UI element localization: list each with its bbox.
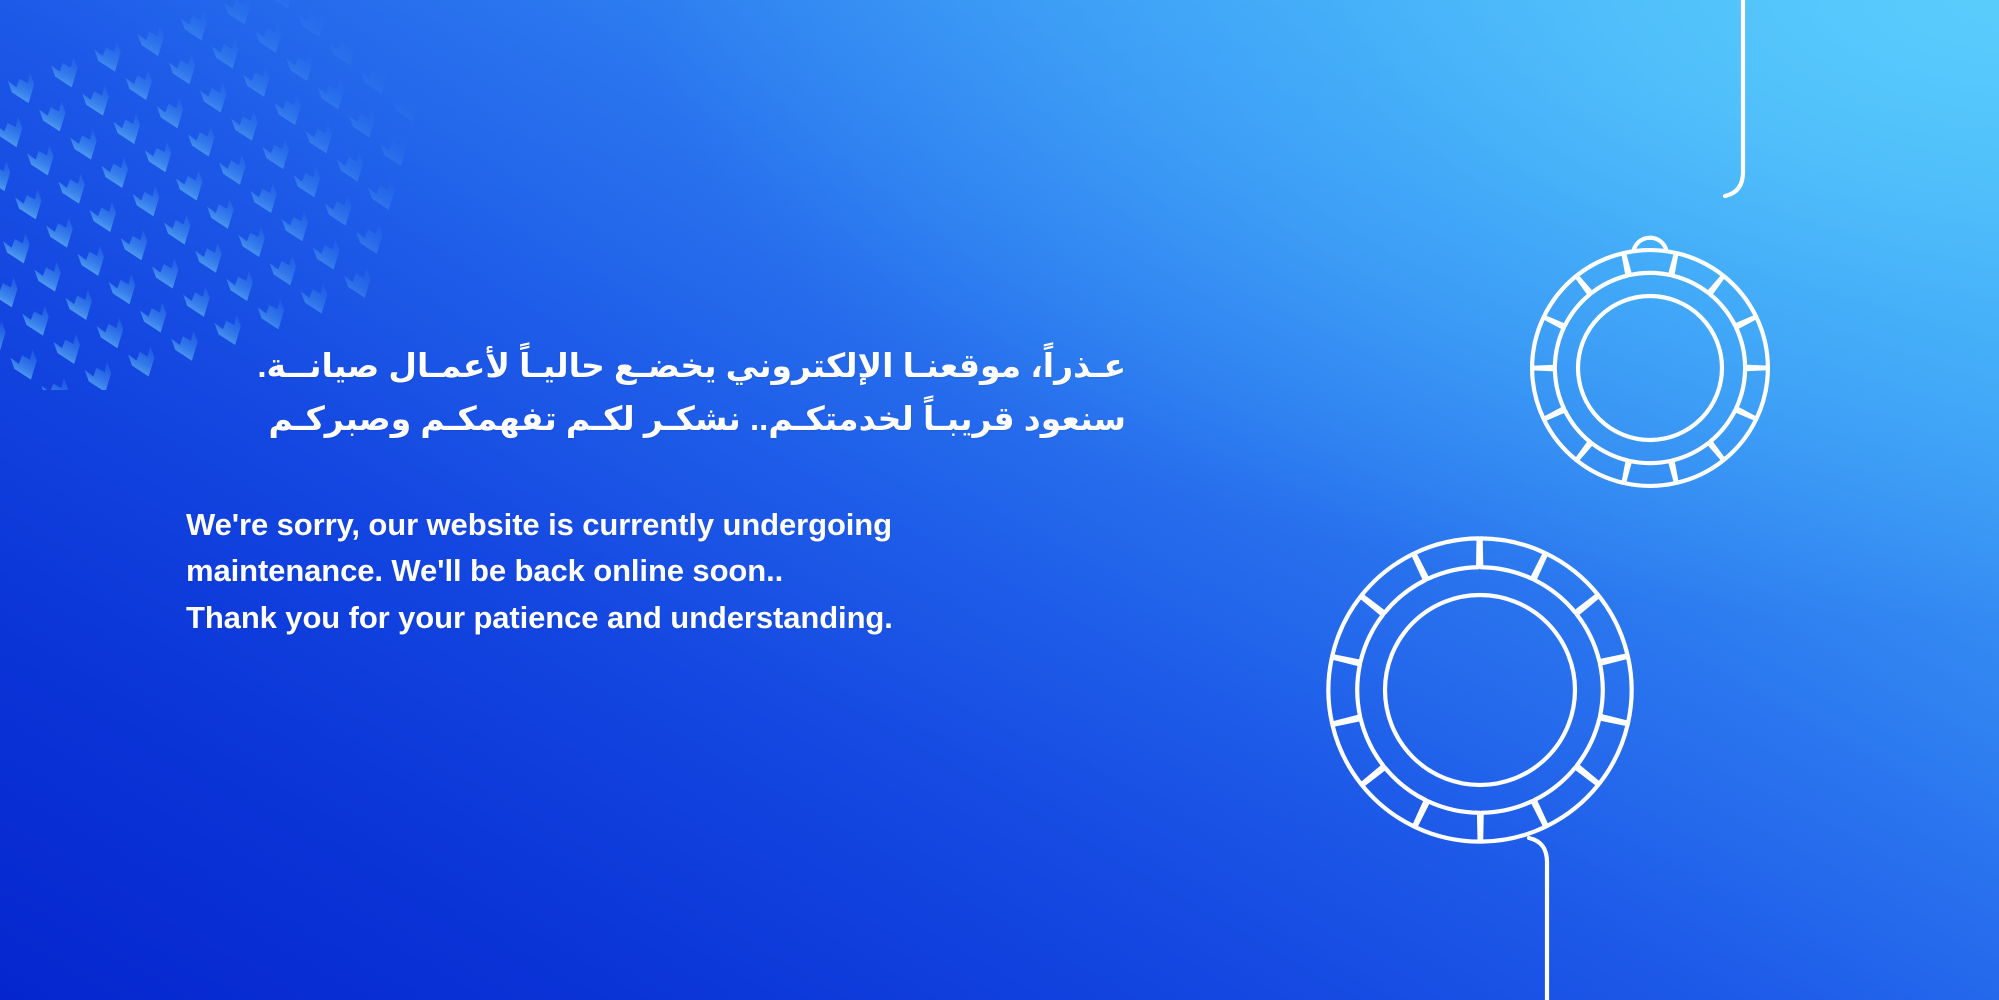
arabic-message: عـذراً، موقعنـا الإلكتروني يخضـع حاليـاً… [186, 340, 1126, 446]
english-message-line-1: We're sorry, our website is currently un… [186, 502, 1146, 549]
english-message-line-3: Thank you for your patience and understa… [186, 595, 1146, 642]
arabic-message-line-2: سنعود قريبـاً لخدمتكـم.. نشكـر لكـم تفهم… [186, 393, 1126, 446]
english-message-line-2: maintenance. We'll be back online soon.. [186, 548, 1146, 595]
english-message: We're sorry, our website is currently un… [186, 502, 1146, 642]
message-block: عـذراً، موقعنـا الإلكتروني يخضـع حاليـاً… [186, 340, 1146, 641]
maintenance-page: عـذراً، موقعنـا الإلكتروني يخضـع حاليـاً… [0, 0, 1999, 1000]
arabic-message-line-1: عـذراً، موقعنـا الإلكتروني يخضـع حاليـاً… [186, 340, 1126, 393]
